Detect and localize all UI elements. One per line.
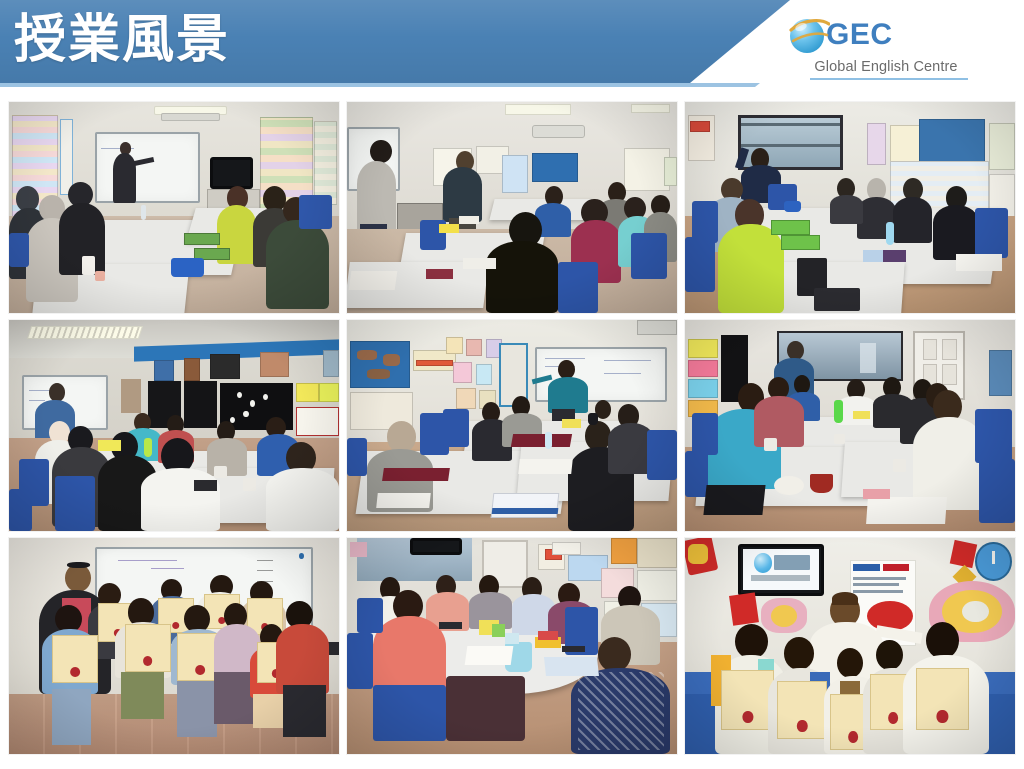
page-title: 授業風景 — [14, 8, 230, 72]
photo-4[interactable]: Teenage students around a table with tea… — [8, 319, 340, 532]
photo-3[interactable]: Students seated around long white table … — [684, 101, 1016, 314]
photo-7[interactable]: Group of children holding certificates w… — [8, 537, 340, 755]
photo-8[interactable]: Adult students seated around an oval tab… — [346, 537, 678, 755]
photo-6[interactable]: Adults seated around joined tables in di… — [684, 319, 1016, 532]
logo-underline — [810, 78, 968, 80]
globe-icon — [786, 13, 830, 57]
logo-mark-row: GEC — [786, 12, 986, 58]
logo-tagline: Global English Centre — [786, 59, 986, 75]
slide-header: 授業風景 — [0, 0, 1024, 96]
photo-5[interactable]: Teacher in teal shirt pointing to whiteb… — [346, 319, 678, 532]
gec-logo: GEC Global English Centre — [786, 12, 986, 84]
photo-2[interactable]: Male teacher standing addressing seated … — [346, 101, 678, 314]
logo-wordmark: GEC — [826, 20, 893, 50]
photo-grid: Teacher writing on whiteboard while adul… — [8, 101, 1016, 761]
photo-1[interactable]: Teacher writing on whiteboard while adul… — [8, 101, 340, 314]
slide-root: 授業風景 — [0, 0, 1024, 769]
photo-9[interactable]: Children holding certificates with teach… — [684, 537, 1016, 755]
header-underline — [0, 83, 760, 87]
